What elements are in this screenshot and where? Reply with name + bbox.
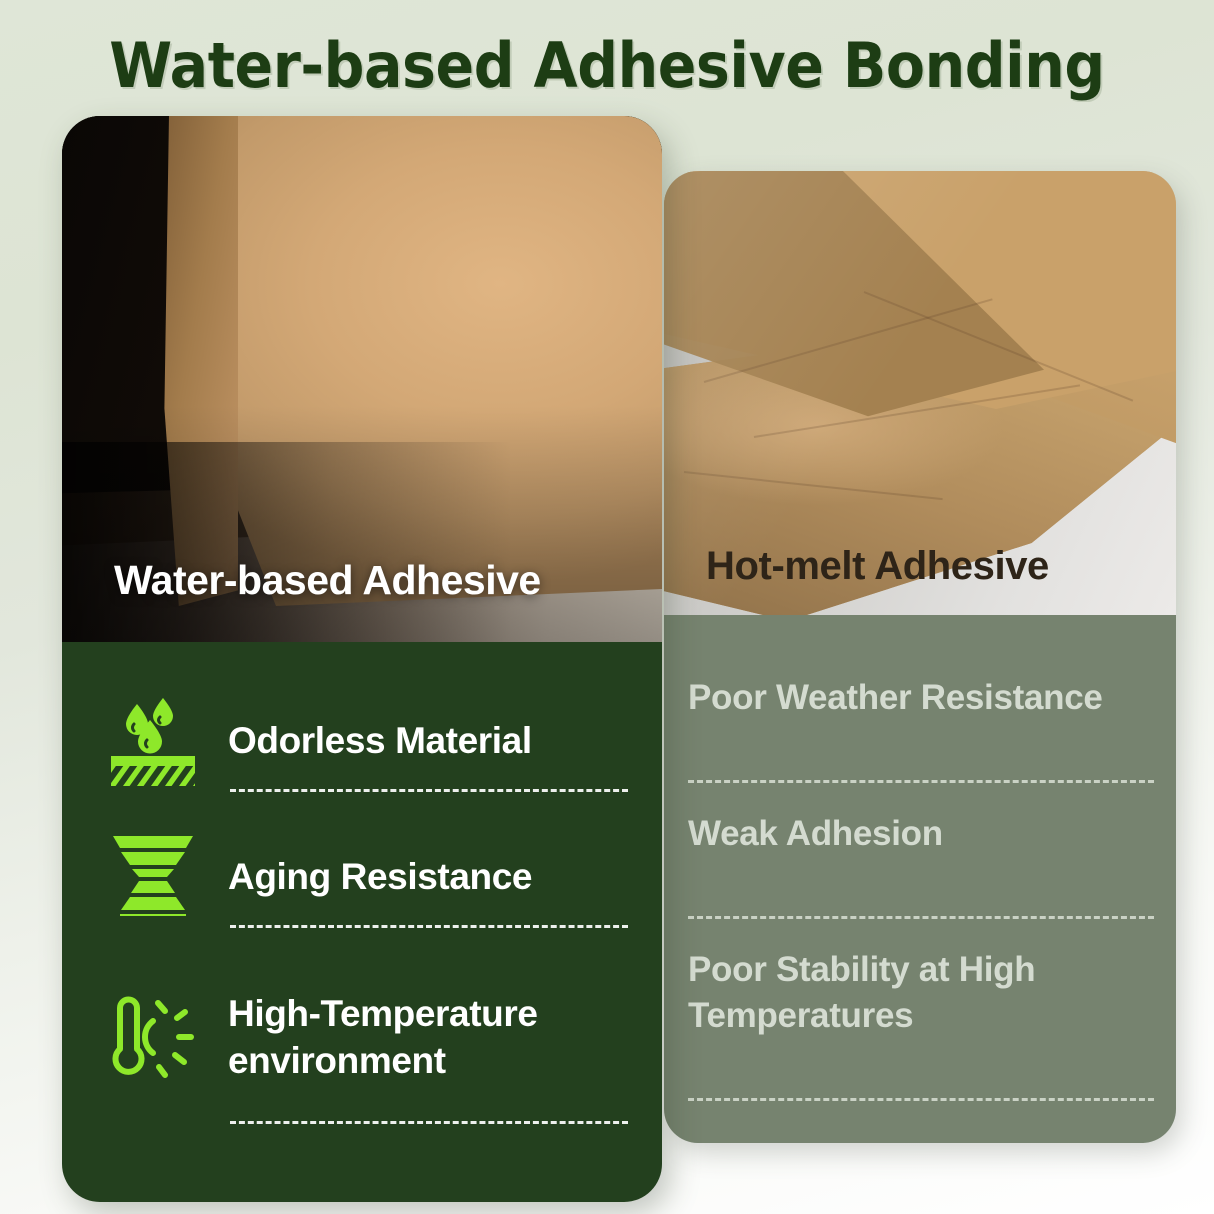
kraft-board-photo: Water-based Adhesive bbox=[62, 116, 662, 642]
hot-melt-drawback-list: Poor Weather Resistance Weak Adhesion Po… bbox=[664, 615, 1176, 1129]
water-droplets-on-surface-icon bbox=[104, 691, 202, 789]
thermometer-sun-icon bbox=[104, 988, 202, 1086]
hot-melt-adhesive-card: Hot-melt Adhesive Poor Weather Resistanc… bbox=[664, 171, 1176, 1143]
list-item: High-Temperature environment bbox=[62, 944, 662, 1130]
drawback-label: Poor Stability at High Temperatures bbox=[688, 947, 1154, 1039]
feature-label: High-Temperature environment bbox=[228, 990, 628, 1084]
list-divider bbox=[688, 1098, 1154, 1101]
feature-label: Aging Resistance bbox=[228, 853, 532, 900]
page-title: Water-based Adhesive Bonding bbox=[49, 28, 1166, 104]
list-item: Poor Weather Resistance bbox=[688, 675, 1154, 811]
crumpled-kraft-paper-photo: Hot-melt Adhesive bbox=[664, 171, 1176, 615]
list-divider bbox=[230, 789, 628, 792]
drawback-label: Weak Adhesion bbox=[688, 811, 1154, 857]
list-item: Aging Resistance bbox=[62, 808, 662, 944]
drawback-label: Poor Weather Resistance bbox=[688, 675, 1154, 721]
water-based-feature-list: Odorless Material Aging Resistance bbox=[62, 642, 662, 1130]
water-based-adhesive-card: Water-based Adhesive bbox=[62, 116, 662, 1202]
list-item: Odorless Material bbox=[62, 672, 662, 808]
hot-melt-photo-label: Hot-melt Adhesive bbox=[664, 544, 1176, 615]
list-divider bbox=[688, 916, 1154, 919]
list-item: Weak Adhesion bbox=[688, 811, 1154, 947]
list-divider bbox=[230, 925, 628, 928]
list-item: Poor Stability at High Temperatures bbox=[688, 947, 1154, 1129]
list-divider bbox=[688, 780, 1154, 783]
list-divider bbox=[230, 1121, 628, 1124]
layered-hourglass-icon bbox=[104, 827, 202, 925]
water-based-photo-label: Water-based Adhesive bbox=[114, 557, 541, 604]
feature-label: Odorless Material bbox=[228, 717, 532, 764]
